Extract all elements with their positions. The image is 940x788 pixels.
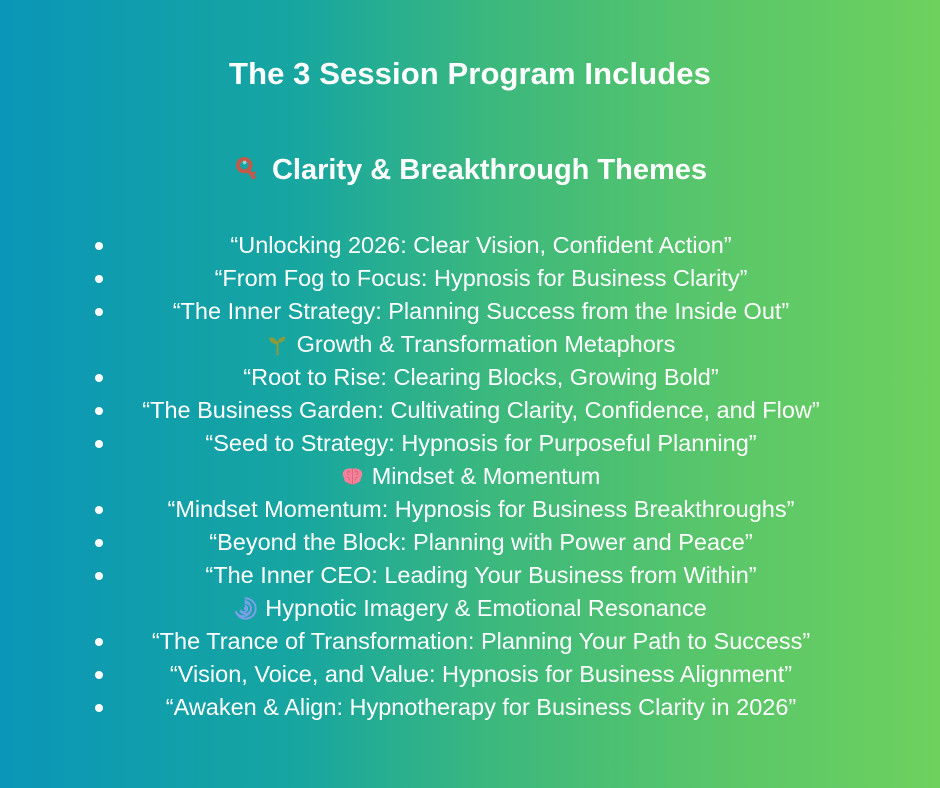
section-heading: Hypnotic Imagery & Emotional Resonance bbox=[0, 592, 940, 625]
section-heading-row: Hypnotic Imagery & Emotional Resonance bbox=[0, 592, 940, 625]
brain-icon bbox=[340, 464, 365, 489]
key-icon bbox=[233, 155, 263, 185]
list-item: “From Fog to Focus: Hypnosis for Busines… bbox=[0, 262, 940, 295]
list-item: “The Business Garden: Cultivating Clarit… bbox=[0, 394, 940, 427]
list-item-label: “From Fog to Focus: Hypnosis for Busines… bbox=[0, 262, 940, 295]
section-heading: Growth & Transformation Metaphors bbox=[0, 328, 940, 361]
list-item-label: “Seed to Strategy: Hypnosis for Purposef… bbox=[0, 427, 940, 460]
list-item: “Awaken & Align: Hypnotherapy for Busine… bbox=[0, 691, 940, 724]
subheading-label: Clarity & Breakthrough Themes bbox=[272, 154, 707, 187]
list-item-label: “The Business Garden: Cultivating Clarit… bbox=[0, 394, 940, 427]
list-item-label: “The Trance of Transformation: Planning … bbox=[0, 625, 940, 658]
subheading: Clarity & Breakthrough Themes bbox=[0, 154, 940, 187]
list-item-label: “The Inner CEO: Leading Your Business fr… bbox=[0, 559, 940, 592]
list-item: “Vision, Voice, and Value: Hypnosis for … bbox=[0, 658, 940, 691]
list-item: “Beyond the Block: Planning with Power a… bbox=[0, 526, 940, 559]
list-item-label: “Mindset Momentum: Hypnosis for Business… bbox=[0, 493, 940, 526]
section-heading-label: Mindset & Momentum bbox=[372, 460, 601, 493]
list-item-label: “The Inner Strategy: Planning Success fr… bbox=[0, 295, 940, 328]
list-item: “Seed to Strategy: Hypnosis for Purposef… bbox=[0, 427, 940, 460]
list-item-label: “Beyond the Block: Planning with Power a… bbox=[0, 526, 940, 559]
section-heading-row: Growth & Transformation Metaphors bbox=[0, 328, 940, 361]
section-heading: Mindset & Momentum bbox=[0, 460, 940, 493]
list-item: “Mindset Momentum: Hypnosis for Business… bbox=[0, 493, 940, 526]
spiral-icon bbox=[233, 596, 258, 621]
list-item: “The Trance of Transformation: Planning … bbox=[0, 625, 940, 658]
section-heading-row: Mindset & Momentum bbox=[0, 460, 940, 493]
slide-canvas: The 3 Session Program Includes Clarity &… bbox=[0, 0, 940, 788]
seedling-icon bbox=[265, 332, 290, 357]
page-title: The 3 Session Program Includes bbox=[0, 56, 940, 92]
list-item: “The Inner CEO: Leading Your Business fr… bbox=[0, 559, 940, 592]
section-heading-label: Growth & Transformation Metaphors bbox=[297, 328, 676, 361]
themes-list: “Unlocking 2026: Clear Vision, Confident… bbox=[0, 229, 940, 724]
list-item-label: “Awaken & Align: Hypnotherapy for Busine… bbox=[0, 691, 940, 724]
list-item-label: “Unlocking 2026: Clear Vision, Confident… bbox=[0, 229, 940, 262]
section-heading-label: Hypnotic Imagery & Emotional Resonance bbox=[265, 592, 707, 625]
list-item-label: “Vision, Voice, and Value: Hypnosis for … bbox=[0, 658, 940, 691]
list-item: “Root to Rise: Clearing Blocks, Growing … bbox=[0, 361, 940, 394]
list-item-label: “Root to Rise: Clearing Blocks, Growing … bbox=[0, 361, 940, 394]
list-item: “Unlocking 2026: Clear Vision, Confident… bbox=[0, 229, 940, 262]
list-item: “The Inner Strategy: Planning Success fr… bbox=[0, 295, 940, 328]
